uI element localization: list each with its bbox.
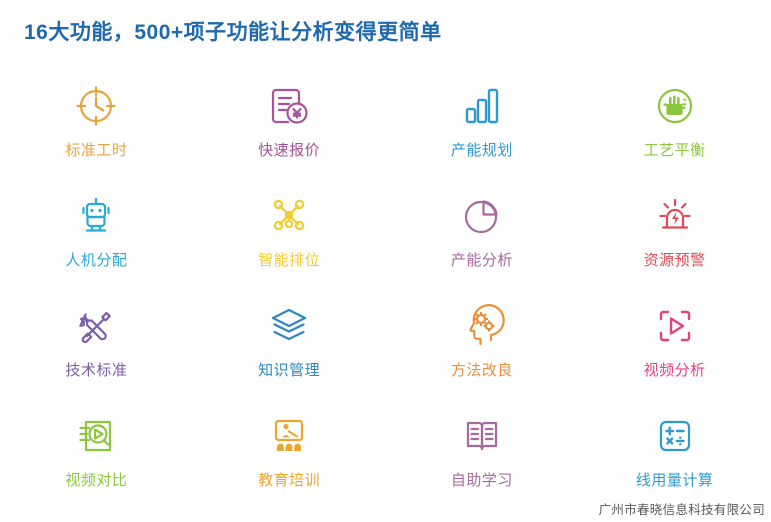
- wrench-hammer-icon: [68, 298, 124, 354]
- feature-label: 视频分析: [644, 362, 706, 380]
- clock-icon: [68, 78, 124, 134]
- classroom-training-icon: [261, 408, 317, 464]
- node-network-icon: [261, 188, 317, 244]
- feature-item-technical-standard[interactable]: 技术标准: [0, 298, 193, 380]
- feature-item-capacity-planning[interactable]: 产能规划: [386, 78, 579, 160]
- feature-label: 线用量计算: [636, 472, 714, 490]
- page-title: 16大功能，500+项子功能让分析变得更简单: [24, 16, 442, 46]
- calculator-icon: [647, 408, 703, 464]
- fist-circle-icon: [647, 78, 703, 134]
- feature-label: 标准工时: [65, 142, 127, 160]
- feature-label: 知识管理: [258, 362, 320, 380]
- feature-label: 产能分析: [451, 252, 513, 270]
- quote-document-yen-icon: [261, 78, 317, 134]
- feature-label: 技术标准: [65, 362, 127, 380]
- play-frame-icon: [647, 298, 703, 354]
- feature-label: 智能排位: [258, 252, 320, 270]
- bar-chart-icon: [454, 78, 510, 134]
- feature-label: 教育培训: [258, 472, 320, 490]
- feature-item-standard-hours[interactable]: 标准工时: [0, 78, 193, 160]
- pie-chart-icon: [454, 188, 510, 244]
- feature-item-resource-alert[interactable]: 资源预警: [578, 188, 771, 270]
- feature-item-smart-layout[interactable]: 智能排位: [193, 188, 386, 270]
- feature-label: 快速报价: [258, 142, 320, 160]
- feature-item-thread-usage-calculation[interactable]: 线用量计算: [578, 408, 771, 490]
- feature-label: 产能规划: [451, 142, 513, 160]
- feature-label: 视频对比: [65, 472, 127, 490]
- feature-label: 方法改良: [451, 362, 513, 380]
- feature-item-capacity-analysis[interactable]: 产能分析: [386, 188, 579, 270]
- alarm-siren-icon: [647, 188, 703, 244]
- video-compare-icon: [68, 408, 124, 464]
- feature-item-method-improvement[interactable]: 方法改良: [386, 298, 579, 380]
- feature-item-process-balance[interactable]: 工艺平衡: [578, 78, 771, 160]
- feature-overview-page: 16大功能，500+项子功能让分析变得更简单 标准工时: [0, 0, 771, 522]
- feature-item-quick-quote[interactable]: 快速报价: [193, 78, 386, 160]
- open-book-icon: [454, 408, 510, 464]
- features-grid: 标准工时 快速报价: [0, 78, 771, 518]
- feature-item-man-machine-allocation[interactable]: 人机分配: [0, 188, 193, 270]
- feature-label: 资源预警: [644, 252, 706, 270]
- head-gears-icon: [454, 298, 510, 354]
- feature-item-video-analysis[interactable]: 视频分析: [578, 298, 771, 380]
- feature-label: 人机分配: [65, 252, 127, 270]
- feature-item-knowledge-management[interactable]: 知识管理: [193, 298, 386, 380]
- feature-label: 工艺平衡: [644, 142, 706, 160]
- feature-label: 自助学习: [451, 472, 513, 490]
- feature-item-video-comparison[interactable]: 视频对比: [0, 408, 193, 490]
- robot-icon: [68, 188, 124, 244]
- layers-stack-icon: [261, 298, 317, 354]
- company-watermark: 广州市春晓信息科技有限公司: [599, 499, 765, 518]
- feature-item-education-training[interactable]: 教育培训: [193, 408, 386, 490]
- feature-item-self-learning[interactable]: 自助学习: [386, 408, 579, 490]
